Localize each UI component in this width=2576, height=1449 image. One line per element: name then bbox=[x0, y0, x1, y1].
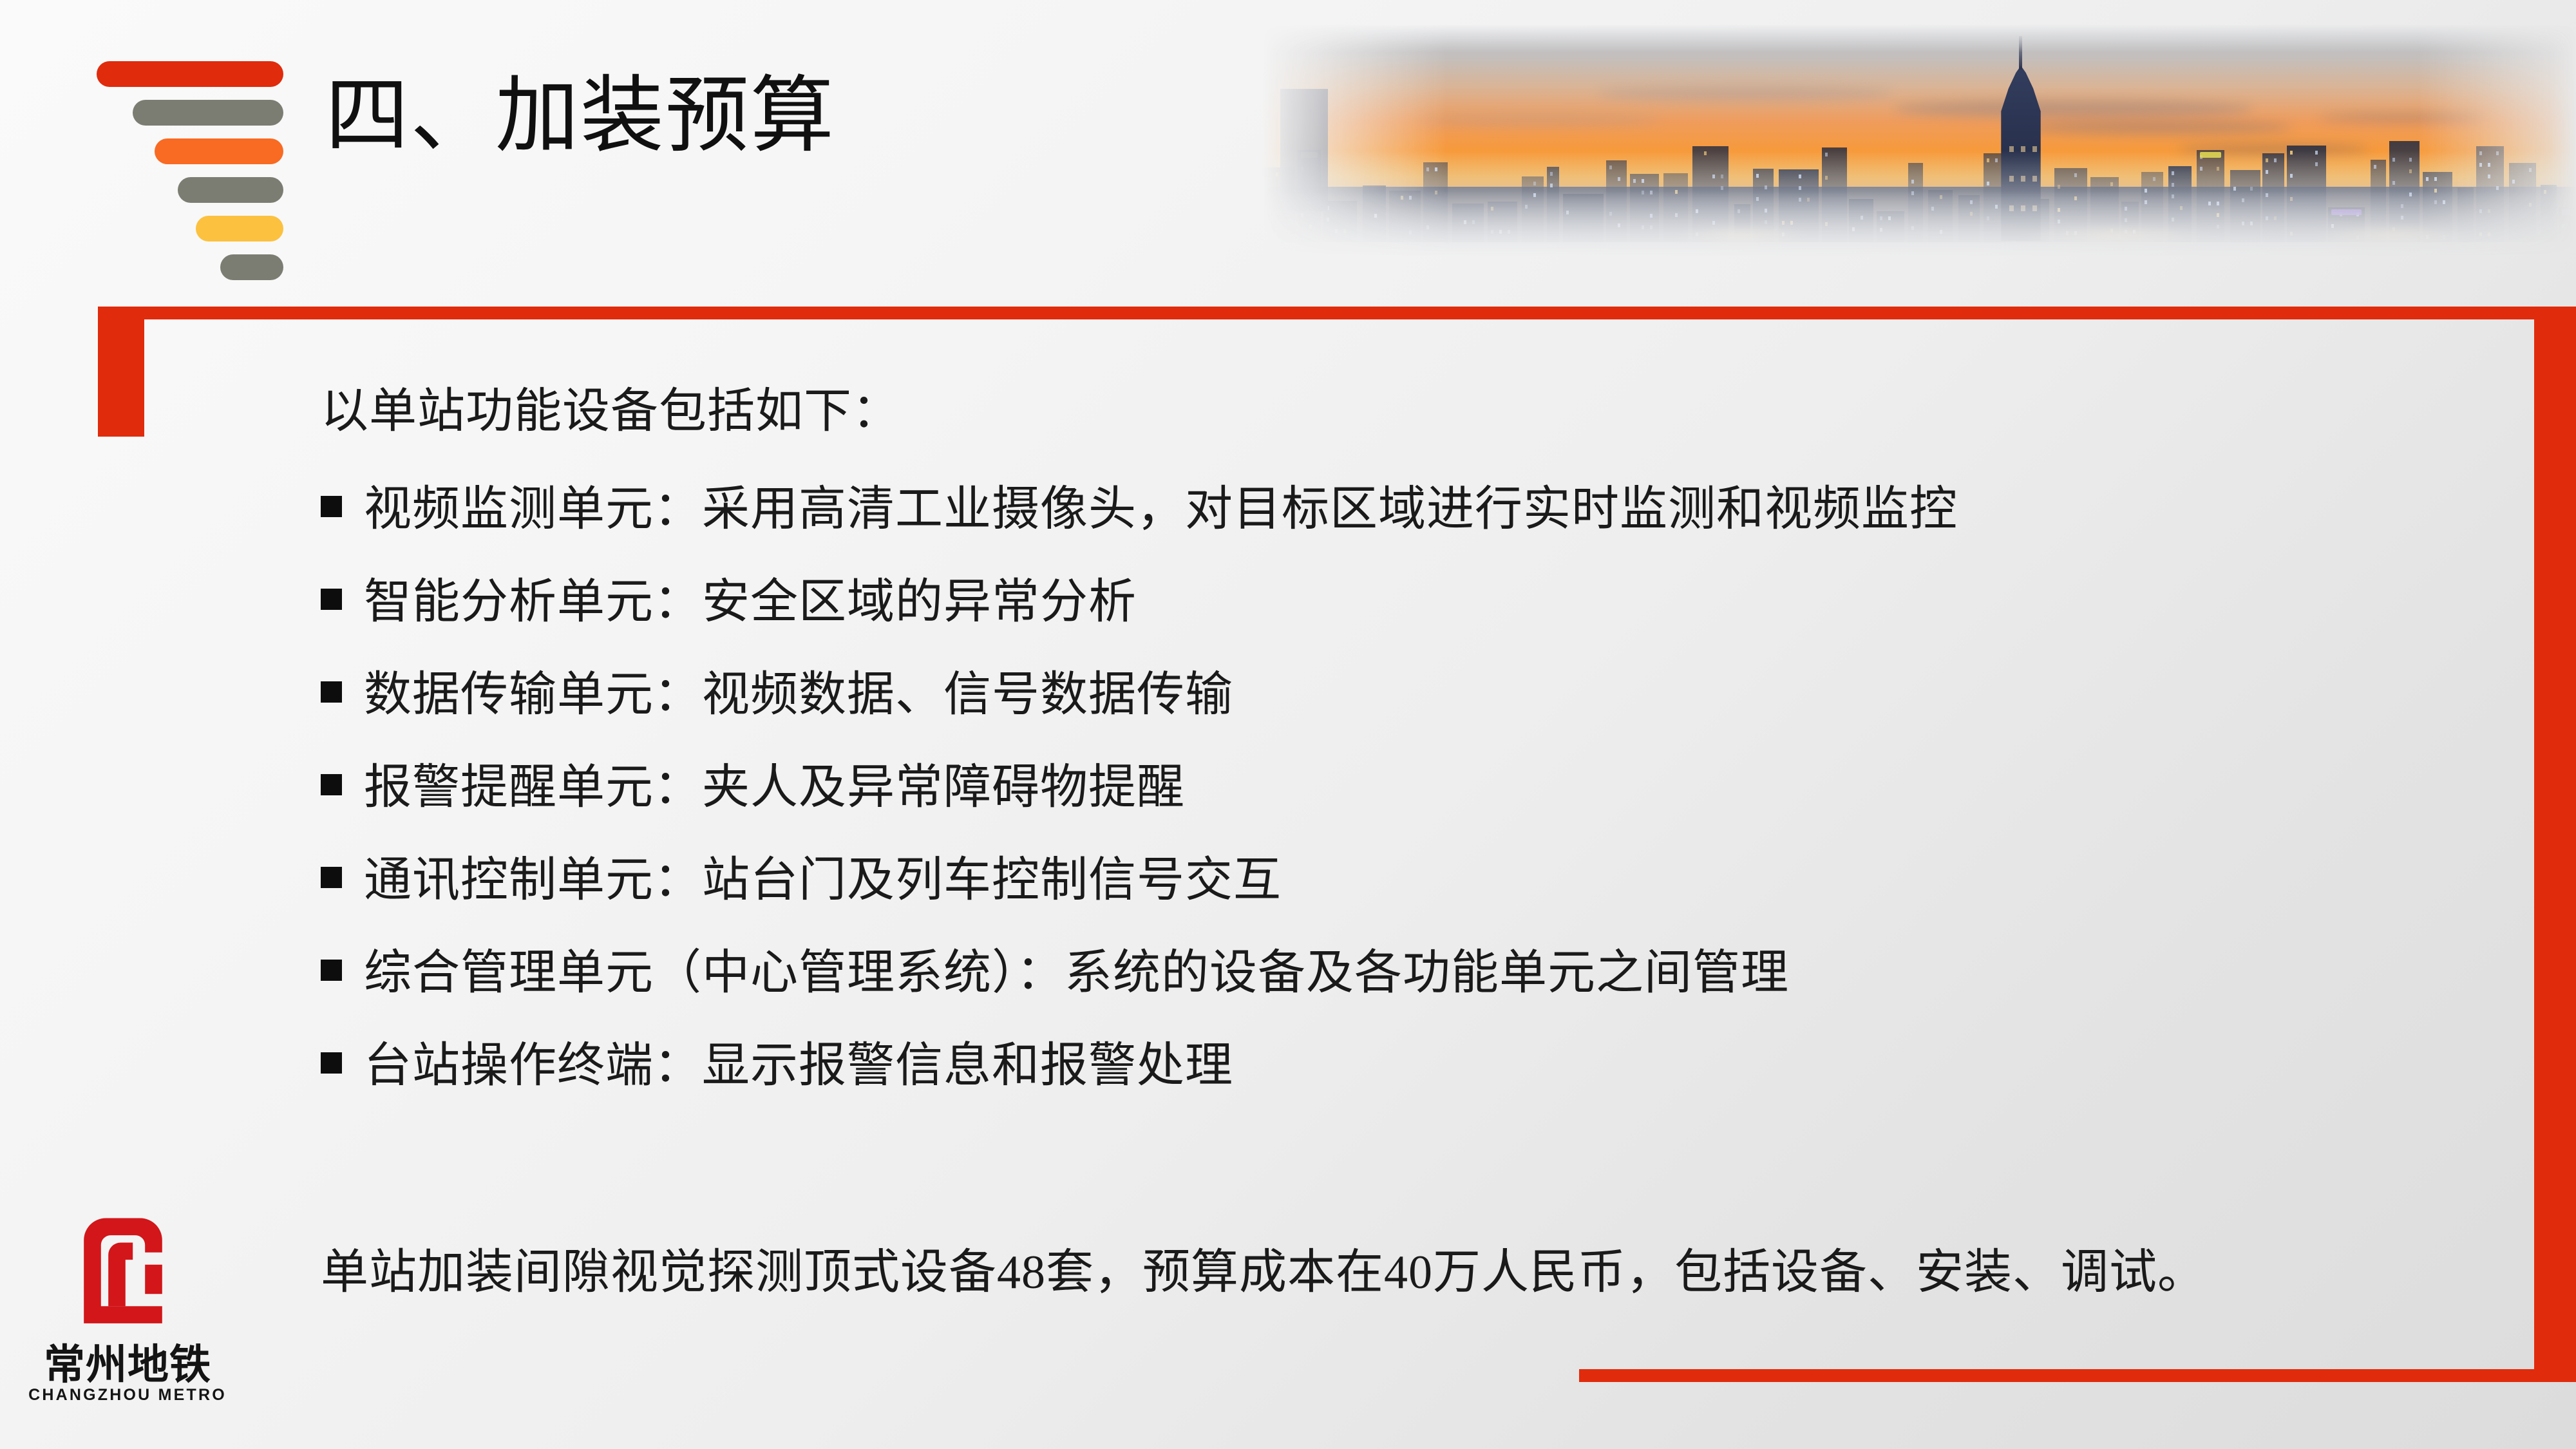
decor-bar-3 bbox=[155, 138, 283, 164]
list-item-label: 智能分析单元：安全区域的异常分析 bbox=[364, 563, 1137, 632]
logo-name-en: CHANGZHOU METRO bbox=[24, 1386, 231, 1405]
list-item-label: 数据传输单元：视频数据、信号数据传输 bbox=[364, 656, 1233, 724]
list-item: 数据传输单元：视频数据、信号数据传输 bbox=[321, 656, 2446, 748]
photo-cloud bbox=[1893, 100, 2254, 117]
list-item-label: 通讯控制单元：站台门及列车控制信号交互 bbox=[364, 841, 1282, 910]
budget-footnote: 单站加装间隙视觉探测顶式设备48套，预算成本在40万人民币，包括设备、安装、调试… bbox=[321, 1233, 2206, 1302]
list-item-label: 台站操作终端：显示报警信息和报警处理 bbox=[364, 1027, 1233, 1095]
photo-cloud bbox=[2022, 121, 2293, 134]
slide-canvas: 四、加装预算 以单站功能设备包括如下： 视频监测单元：采用高清工业摄像头，对目标… bbox=[0, 0, 2576, 1449]
metro-logo-icon bbox=[62, 1211, 184, 1323]
city-skyline-photo bbox=[1262, 24, 2576, 256]
square-bullet-icon bbox=[321, 960, 342, 981]
photo-cloud bbox=[1417, 115, 1662, 126]
list-item-label: 视频监测单元：采用高清工业摄像头，对目标区域进行实时监测和视频监控 bbox=[364, 470, 1958, 539]
slide-title: 四、加装预算 bbox=[325, 68, 835, 166]
decorative-bar-stack bbox=[97, 61, 283, 254]
photo-tower-spire bbox=[2019, 36, 2022, 70]
list-item: 报警提醒单元：夹人及异常障碍物提醒 bbox=[321, 748, 2446, 841]
photo-cloud bbox=[2318, 113, 2486, 122]
decor-bar-1 bbox=[97, 61, 283, 87]
square-bullet-icon bbox=[321, 867, 342, 888]
frame-top-horizontal bbox=[98, 307, 2576, 319]
list-item-label: 综合管理单元（中心管理系统）：系统的设备及各功能单元之间管理 bbox=[364, 934, 1789, 1003]
list-item: 智能分析单元：安全区域的异常分析 bbox=[321, 563, 2446, 656]
changzhou-metro-logo: 常州地铁 CHANGZHOU METRO bbox=[24, 1211, 231, 1423]
frame-right-vertical bbox=[2534, 307, 2576, 1382]
square-bullet-icon bbox=[321, 681, 342, 703]
square-bullet-icon bbox=[321, 1052, 342, 1074]
frame-bottom-horizontal bbox=[1579, 1369, 2576, 1382]
bullet-list: 视频监测单元：采用高清工业摄像头，对目标区域进行实时监测和视频监控 智能分析单元… bbox=[321, 470, 2446, 1119]
list-item-label: 报警提醒单元：夹人及异常障碍物提醒 bbox=[364, 748, 1185, 817]
decor-bar-6 bbox=[220, 254, 283, 280]
list-item: 台站操作终端：显示报警信息和报警处理 bbox=[321, 1027, 2446, 1119]
photo-foreground-haze bbox=[1262, 150, 2576, 256]
decor-bar-2 bbox=[133, 100, 283, 126]
photo-cloud bbox=[1597, 86, 1893, 100]
square-bullet-icon bbox=[321, 774, 342, 795]
decor-bar-5 bbox=[196, 216, 283, 241]
square-bullet-icon bbox=[321, 589, 342, 610]
decor-bar-4 bbox=[178, 177, 283, 203]
list-item: 综合管理单元（中心管理系统）：系统的设备及各功能单元之间管理 bbox=[321, 934, 2446, 1027]
list-item: 视频监测单元：采用高清工业摄像头，对目标区域进行实时监测和视频监控 bbox=[321, 470, 2446, 563]
intro-text: 以单站功能设备包括如下： bbox=[321, 372, 900, 441]
logo-name-cn: 常州地铁 bbox=[24, 1332, 231, 1391]
list-item: 通讯控制单元：站台门及列车控制信号交互 bbox=[321, 841, 2446, 934]
frame-top-left-vertical bbox=[98, 307, 144, 437]
square-bullet-icon bbox=[321, 496, 342, 517]
